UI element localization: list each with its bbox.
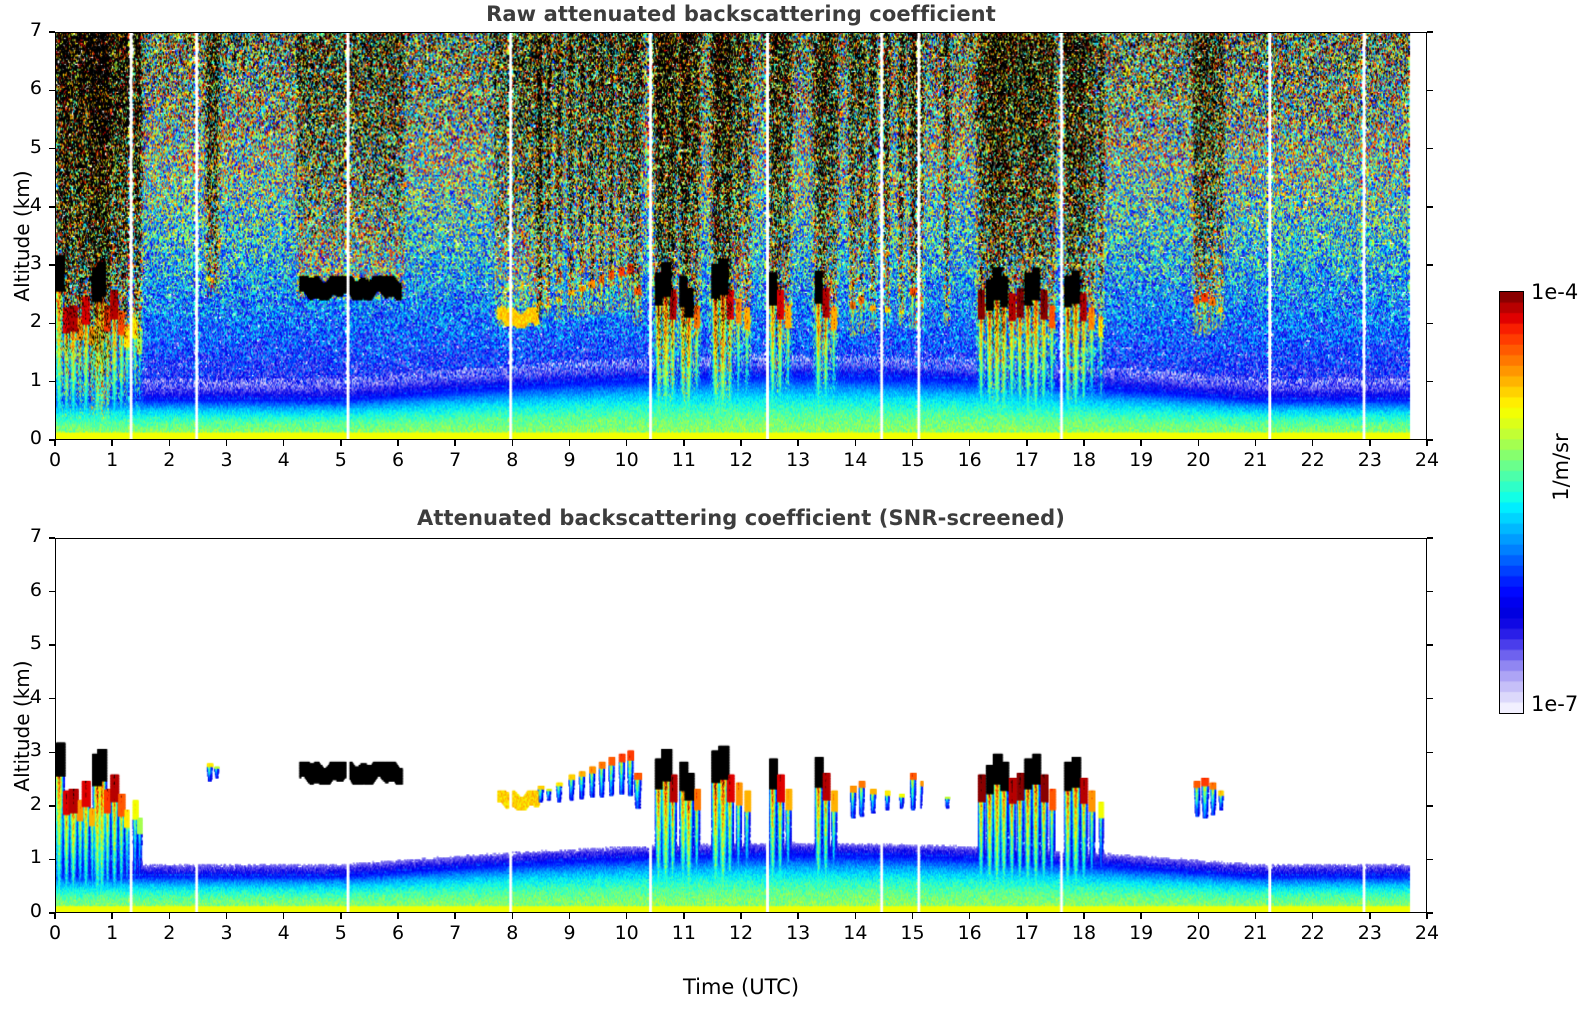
x-tick xyxy=(797,440,798,446)
x-tick-label: 18 xyxy=(1054,922,1114,944)
x-tick xyxy=(683,440,684,446)
y-tick xyxy=(49,148,55,149)
y-tick-label: 7 xyxy=(2,19,42,41)
x-tick xyxy=(1140,440,1141,446)
x-tick-label: 22 xyxy=(1283,922,1343,944)
x-tick xyxy=(340,440,341,446)
x-tick xyxy=(569,913,570,919)
y-tick xyxy=(49,31,55,32)
colorbar-min-label: 1e-7 xyxy=(1531,692,1578,716)
y-tick-label: 0 xyxy=(2,900,42,922)
x-tick-label: 2 xyxy=(139,449,199,471)
x-tick xyxy=(454,440,455,446)
x-tick-label: 10 xyxy=(597,922,657,944)
y-tick-right xyxy=(1427,591,1433,592)
x-tick-label: 3 xyxy=(197,449,257,471)
panel-title-raw: Raw attenuated backscattering coefficien… xyxy=(55,2,1427,26)
x-tick xyxy=(1140,913,1141,919)
x-tick xyxy=(1312,913,1313,919)
x-tick-label: 23 xyxy=(1340,449,1400,471)
x-tick-label: 4 xyxy=(254,922,314,944)
x-tick-label: 13 xyxy=(768,922,828,944)
x-tick-label: 24 xyxy=(1397,449,1457,471)
y-tick-right xyxy=(1427,752,1433,753)
x-tick-label: 21 xyxy=(1226,449,1286,471)
x-tick xyxy=(969,440,970,446)
x-tick xyxy=(969,913,970,919)
colorbar-unit-label: 1/m/sr xyxy=(1549,392,1573,542)
y-tick-right xyxy=(1427,805,1433,806)
y-tick xyxy=(49,698,55,699)
y-tick xyxy=(49,805,55,806)
colorbar-max-label: 1e-4 xyxy=(1531,280,1578,304)
x-tick xyxy=(54,440,55,446)
x-tick xyxy=(169,440,170,446)
x-tick xyxy=(912,440,913,446)
x-tick-label: 17 xyxy=(997,449,1057,471)
y-tick-right xyxy=(1427,644,1433,645)
y-axis-label-raw: Altitude (km) xyxy=(10,166,34,306)
x-tick-label: 19 xyxy=(1111,449,1171,471)
x-tick xyxy=(855,440,856,446)
y-tick-label: 3 xyxy=(2,739,42,761)
y-tick-label: 3 xyxy=(2,252,42,274)
x-tick xyxy=(283,440,284,446)
x-tick xyxy=(797,913,798,919)
y-tick xyxy=(49,206,55,207)
y-tick xyxy=(49,537,55,538)
x-tick-label: 2 xyxy=(139,922,199,944)
colorbar xyxy=(1499,291,1524,714)
y-tick-right xyxy=(1427,859,1433,860)
y-tick-right xyxy=(1427,698,1433,699)
x-tick-label: 6 xyxy=(368,922,428,944)
x-tick xyxy=(1426,913,1427,919)
x-tick xyxy=(1255,440,1256,446)
x-tick xyxy=(169,913,170,919)
x-tick xyxy=(626,913,627,919)
plot-area-screened xyxy=(55,538,1427,913)
y-tick-right xyxy=(1427,323,1433,324)
x-tick xyxy=(740,913,741,919)
y-tick xyxy=(49,859,55,860)
y-tick-right xyxy=(1427,912,1433,913)
y-tick-label: 2 xyxy=(2,310,42,332)
x-tick-label: 11 xyxy=(654,922,714,944)
y-tick-label: 1 xyxy=(2,369,42,391)
y-tick-label: 2 xyxy=(2,793,42,815)
x-tick-label: 6 xyxy=(368,449,428,471)
x-tick-label: 17 xyxy=(997,922,1057,944)
x-tick-label: 5 xyxy=(311,922,371,944)
x-tick xyxy=(512,440,513,446)
x-tick-label: 12 xyxy=(711,449,771,471)
x-tick-label: 19 xyxy=(1111,922,1171,944)
x-tick xyxy=(397,913,398,919)
heatmap-raw xyxy=(56,33,1426,439)
x-tick xyxy=(855,913,856,919)
x-tick-label: 21 xyxy=(1226,922,1286,944)
x-tick-label: 3 xyxy=(197,922,257,944)
x-tick xyxy=(1026,440,1027,446)
x-tick-label: 16 xyxy=(940,449,1000,471)
x-axis-label: Time (UTC) xyxy=(55,975,1427,999)
x-tick-label: 5 xyxy=(311,449,371,471)
x-tick-label: 20 xyxy=(1168,922,1228,944)
y-tick-right xyxy=(1427,90,1433,91)
x-tick xyxy=(1083,440,1084,446)
x-tick-label: 9 xyxy=(540,922,600,944)
x-tick xyxy=(912,913,913,919)
x-tick xyxy=(1426,440,1427,446)
x-tick xyxy=(54,913,55,919)
y-tick xyxy=(49,439,55,440)
x-tick xyxy=(1369,440,1370,446)
y-axis-label-screened: Altitude (km) xyxy=(10,656,34,796)
y-tick-label: 6 xyxy=(2,579,42,601)
x-tick-label: 8 xyxy=(482,922,542,944)
y-tick xyxy=(49,90,55,91)
x-tick xyxy=(454,913,455,919)
y-tick-right xyxy=(1427,537,1433,538)
x-tick-label: 7 xyxy=(425,449,485,471)
x-tick-label: 14 xyxy=(825,449,885,471)
x-tick xyxy=(397,440,398,446)
x-tick-label: 18 xyxy=(1054,449,1114,471)
panel-title-screened: Attenuated backscattering coefficient (S… xyxy=(55,506,1427,530)
x-tick xyxy=(226,913,227,919)
x-tick xyxy=(683,913,684,919)
y-tick xyxy=(49,381,55,382)
y-tick-right xyxy=(1427,31,1433,32)
x-tick xyxy=(740,440,741,446)
x-tick-label: 11 xyxy=(654,449,714,471)
y-tick-label: 5 xyxy=(2,136,42,158)
x-tick xyxy=(1312,440,1313,446)
x-tick-label: 7 xyxy=(425,922,485,944)
x-tick xyxy=(1198,440,1199,446)
x-tick-label: 9 xyxy=(540,449,600,471)
x-tick xyxy=(1369,913,1370,919)
y-tick-right xyxy=(1427,264,1433,265)
x-tick xyxy=(1255,913,1256,919)
x-tick-label: 15 xyxy=(883,922,943,944)
x-tick xyxy=(340,913,341,919)
y-tick xyxy=(49,264,55,265)
x-tick-label: 22 xyxy=(1283,449,1343,471)
x-tick-label: 4 xyxy=(254,449,314,471)
y-tick-label: 4 xyxy=(2,194,42,216)
x-tick xyxy=(1198,913,1199,919)
x-tick-label: 0 xyxy=(25,449,85,471)
y-tick xyxy=(49,644,55,645)
x-tick-label: 24 xyxy=(1397,922,1457,944)
x-tick-label: 12 xyxy=(711,922,771,944)
x-tick xyxy=(1026,913,1027,919)
y-tick-label: 6 xyxy=(2,77,42,99)
x-tick-label: 13 xyxy=(768,449,828,471)
x-tick-label: 0 xyxy=(25,922,85,944)
x-tick xyxy=(512,913,513,919)
y-tick-right xyxy=(1427,439,1433,440)
x-tick xyxy=(111,913,112,919)
x-tick xyxy=(1083,913,1084,919)
x-tick-label: 16 xyxy=(940,922,1000,944)
x-tick-label: 1 xyxy=(82,449,142,471)
y-tick-label: 1 xyxy=(2,846,42,868)
y-tick-right xyxy=(1427,148,1433,149)
x-tick xyxy=(111,440,112,446)
y-tick xyxy=(49,323,55,324)
x-tick xyxy=(626,440,627,446)
x-tick-label: 20 xyxy=(1168,449,1228,471)
y-tick xyxy=(49,752,55,753)
heatmap-screened xyxy=(56,539,1426,912)
x-tick xyxy=(569,440,570,446)
y-tick xyxy=(49,912,55,913)
x-tick-label: 10 xyxy=(597,449,657,471)
lidar-figure: Raw attenuated backscattering coefficien… xyxy=(0,0,1595,1020)
x-tick-label: 14 xyxy=(825,922,885,944)
y-tick xyxy=(49,591,55,592)
x-tick xyxy=(226,440,227,446)
plot-area-raw xyxy=(55,32,1427,440)
y-tick-label: 7 xyxy=(2,525,42,547)
y-tick-label: 5 xyxy=(2,632,42,654)
y-tick-right xyxy=(1427,381,1433,382)
x-tick xyxy=(283,913,284,919)
x-tick-label: 8 xyxy=(482,449,542,471)
y-tick-label: 4 xyxy=(2,686,42,708)
x-tick-label: 1 xyxy=(82,922,142,944)
x-tick-label: 23 xyxy=(1340,922,1400,944)
y-tick-label: 0 xyxy=(2,427,42,449)
y-tick-right xyxy=(1427,206,1433,207)
x-tick-label: 15 xyxy=(883,449,943,471)
